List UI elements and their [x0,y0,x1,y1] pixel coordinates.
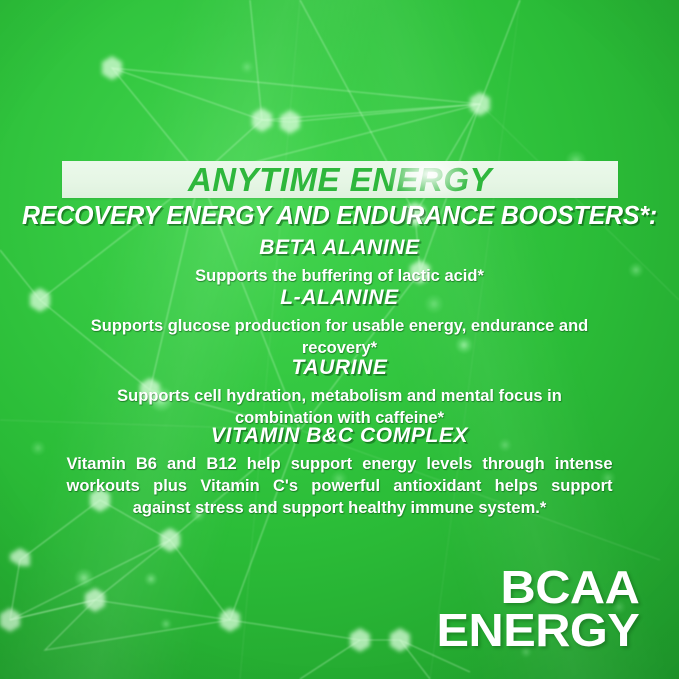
ingredient-name: BETA ALANINE [0,236,679,260]
headline-text: ANYTIME ENERGY [62,161,618,198]
bcaa-energy-logo: BCAA ENERGY [448,566,639,651]
headline-banner: ANYTIME ENERGY [62,161,618,198]
poster-content: ANYTIME ENERGY RECOVERY ENERGY AND ENDUR… [0,0,679,679]
product-infographic-poster: ANYTIME ENERGY RECOVERY ENERGY AND ENDUR… [0,0,679,679]
ingredient-description: Vitamin B6 and B12 help support energy l… [67,453,613,519]
logo-line-energy: ENERGY [436,609,639,651]
ingredient-block-vitamin-bc-complex: VITAMIN B&C COMPLEX Vitamin B6 and B12 h… [0,424,679,519]
ingredient-name: L-ALANINE [0,286,679,310]
ingredient-block-beta-alanine: BETA ALANINE Supports the buffering of l… [0,236,679,287]
subtitle-text: RECOVERY ENERGY AND ENDURANCE BOOSTERS*: [14,200,666,231]
ingredient-name: VITAMIN B&C COMPLEX [0,424,679,448]
ingredient-block-taurine: TAURINE Supports cell hydration, metabol… [0,356,679,429]
ingredient-block-l-alanine: L-ALANINE Supports glucose production fo… [0,286,679,359]
ingredient-name: TAURINE [0,356,679,380]
logo-line-bcaa: BCAA [436,566,639,608]
ingredient-description: Supports cell hydration, metabolism and … [70,385,610,429]
ingredient-description: Supports glucose production for usable e… [70,315,610,359]
ingredient-description: Supports the buffering of lactic acid* [70,265,610,287]
